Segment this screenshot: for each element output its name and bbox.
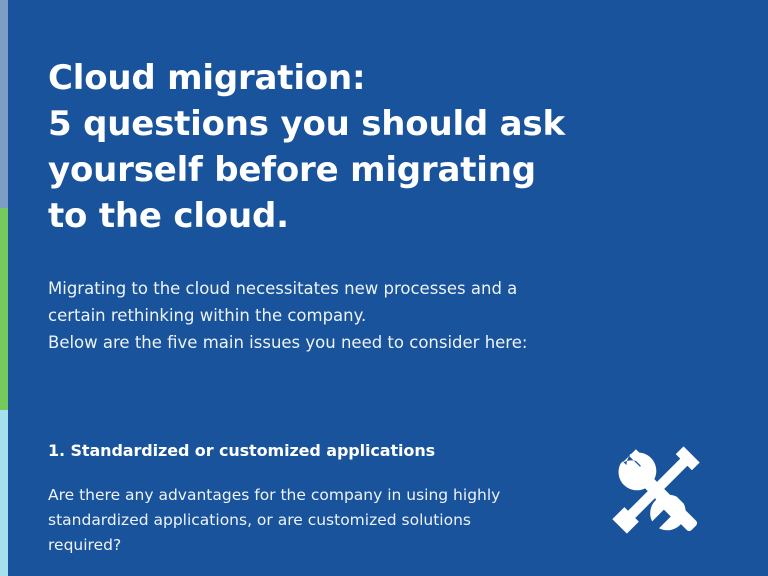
section-heading: 1. Standardized or customized applicatio… bbox=[48, 440, 608, 462]
slide-canvas: Cloud migration: 5 questions you should … bbox=[0, 0, 768, 576]
intro-paragraph: Migrating to the cloud necessitates new … bbox=[48, 275, 648, 356]
section-body-paragraph: Are there any advantages for the company… bbox=[48, 483, 538, 558]
slide-title: Cloud migration: 5 questions you should … bbox=[48, 55, 648, 239]
accent-bar-slate bbox=[0, 0, 8, 208]
wrench-screwdriver-icon bbox=[604, 438, 708, 542]
accent-bar-cyan bbox=[0, 410, 8, 576]
accent-bar-green bbox=[0, 208, 8, 410]
